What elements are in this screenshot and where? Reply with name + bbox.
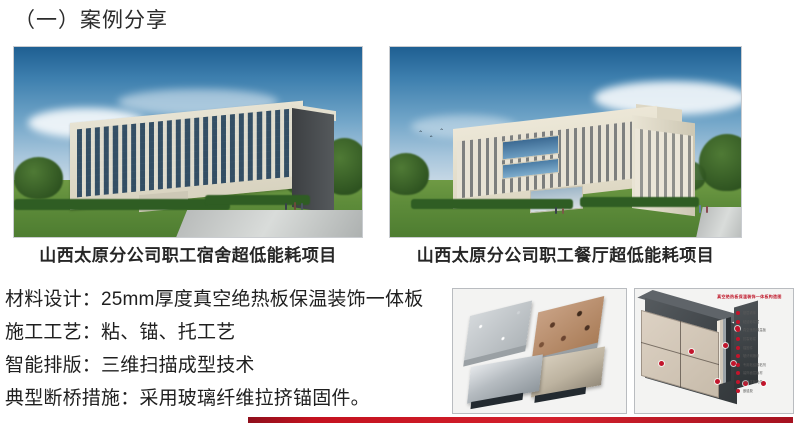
tree-shape	[699, 134, 742, 191]
person-figure	[301, 203, 303, 210]
spec-line-bridge: 典型断桥措施：采用玻璃纤维拉挤锚固件。	[5, 382, 445, 415]
person-figure	[699, 205, 701, 213]
legend-dot-icon	[736, 354, 740, 358]
tree-shape	[14, 157, 63, 199]
legend-item: 基层墙体	[736, 309, 788, 318]
person-figure	[562, 208, 564, 214]
legend-dot-icon	[736, 311, 740, 315]
facade-pier-grid	[635, 129, 693, 206]
legend-dot-icon	[736, 346, 740, 350]
legend-dot-icon	[736, 328, 740, 332]
callout-marker	[715, 379, 720, 384]
legend-item: 托挂平板托件	[736, 378, 788, 387]
legend-item: 装饰面层板材	[736, 369, 788, 378]
legend-label: 基层墙体	[743, 311, 756, 315]
bird-icon: ⌃	[439, 129, 444, 135]
panel-core-layer	[535, 387, 586, 403]
canteen-photo[interactable]: ⌃ ⌃ ⌃	[389, 46, 742, 238]
bird-icon: ⌃	[429, 136, 434, 142]
legend-item: 嵌缝胶	[736, 386, 788, 395]
gray-speckled-panel-tile	[464, 300, 532, 361]
canteen-photo-caption: 山西太原分公司职工餐厅超低能耗项目	[389, 241, 742, 266]
legend-label: 嵌缝胶	[743, 389, 753, 393]
panel-core-layer	[471, 393, 524, 409]
legend-label: 粘结砂浆层	[743, 320, 759, 324]
legend-label: 装饰面层板材	[743, 371, 763, 375]
person-figure	[294, 202, 296, 210]
hedge-row	[580, 197, 699, 207]
legend-item: 玻纤网格布	[736, 352, 788, 361]
spec-line-layout: 智能排版：三维扫描成型技术	[5, 349, 445, 382]
insulation-layer-stack	[717, 317, 731, 385]
walkway	[175, 210, 363, 238]
legend-item: 锚固件	[736, 343, 788, 352]
spec-line-process: 施工工艺：粘、锚、托工艺	[5, 316, 445, 349]
dormitory-photo[interactable]	[13, 46, 363, 238]
panel-samples-image[interactable]	[452, 288, 627, 414]
legend-item: 真空绝热保温板	[736, 326, 788, 335]
specification-list: 材料设计：25mm厚度真空绝热板保温装饰一体板 施工工艺：粘、锚、托工艺 智能排…	[5, 283, 445, 415]
callout-marker	[689, 349, 694, 354]
legend-label: 抗裂砂浆	[743, 337, 756, 341]
legend-item: 专用粘结胶粘剂	[736, 361, 788, 370]
legend-dot-icon	[736, 380, 740, 384]
legend-label: 锚固件	[743, 346, 753, 350]
legend-dot-icon	[736, 363, 740, 367]
hedge-row	[411, 199, 572, 209]
wall-section-title: 真空绝热板保温装饰一体板构造图	[717, 294, 782, 300]
legend-label: 专用粘结胶粘剂	[743, 363, 766, 367]
hedge-row	[14, 199, 230, 210]
page-title: （一）案例分享	[14, 6, 168, 36]
person-figure	[555, 207, 557, 214]
panel-joint-line	[680, 321, 681, 387]
legend-label: 真空绝热保温板	[743, 328, 766, 332]
legend-label: 托挂平板托件	[743, 380, 763, 384]
tree-shape	[389, 153, 429, 195]
callout-marker	[659, 361, 664, 366]
legend-label: 玻纤网格布	[743, 354, 759, 358]
person-figure	[706, 206, 708, 213]
legend-dot-icon	[736, 337, 740, 341]
legend-item: 抗裂砂浆	[736, 335, 788, 344]
wall-section-legend: 基层墙体 粘结砂浆层 真空绝热保温板 抗裂砂浆 锚固件 玻纤网格布 专用粘结胶粘…	[736, 309, 788, 395]
spec-line-material: 材料设计：25mm厚度真空绝热板保温装饰一体板	[5, 283, 445, 316]
wall-section-image[interactable]: 真空绝热板保温装饰一体板构造图 基层墙体 粘结砂浆层 真空绝热保温板 抗裂砂浆	[634, 288, 794, 414]
dormitory-photo-caption: 山西太原分公司职工宿舍超低能耗项目	[13, 241, 363, 266]
callout-marker	[723, 343, 728, 348]
bird-icon: ⌃	[418, 131, 423, 137]
legend-dot-icon	[736, 371, 740, 375]
walkway	[695, 207, 742, 238]
legend-dot-icon	[736, 389, 740, 393]
bottom-accent-bar	[248, 417, 793, 423]
legend-item: 粘结砂浆层	[736, 318, 788, 327]
facade-window-grid	[77, 108, 296, 197]
legend-dot-icon	[736, 320, 740, 324]
